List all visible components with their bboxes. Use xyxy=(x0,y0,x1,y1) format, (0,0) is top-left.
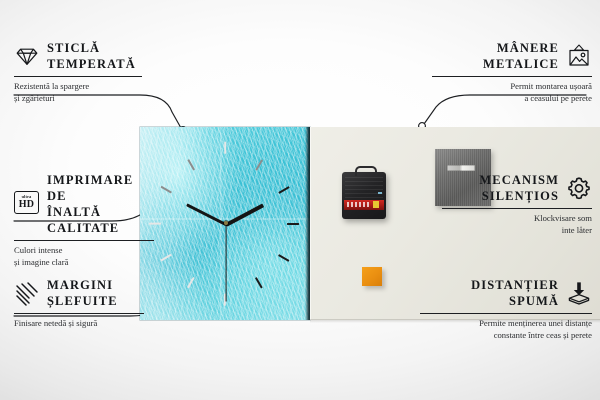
feature-header: MECANISM SILENȚIOS xyxy=(442,172,592,204)
clock-tick-10 xyxy=(161,186,172,193)
feature-title: MÂNERE METALICE xyxy=(483,40,559,72)
battery-label xyxy=(347,202,369,207)
feature-subtitle: Klockvisare som inte låter xyxy=(442,213,592,236)
feature-header: MÂNERE METALICE xyxy=(432,40,592,72)
feature-divider xyxy=(14,76,142,77)
feature-foam-spacer: DISTANȚIER SPUMĂ Permite menținerea unei… xyxy=(420,277,592,341)
feature-header: STICLĂ TEMPERATĂ xyxy=(14,40,142,72)
feature-tempered-glass: STICLĂ TEMPERATĂ Rezistentă la spargere … xyxy=(14,40,142,104)
feature-subtitle: Culori intense și imagine clară xyxy=(14,245,154,268)
feature-title: STICLĂ TEMPERATĂ xyxy=(47,40,136,72)
clock-tick-8 xyxy=(161,254,172,261)
feature-subtitle: Rezistentă la spargere și zgârieturi xyxy=(14,81,142,104)
ultra-hd-badge-icon: ultra HD xyxy=(14,191,40,217)
feature-metal-hangers: MÂNERE METALICE Permit montarea ușoară a… xyxy=(432,40,592,104)
infographic-canvas: STICLĂ TEMPERATĂ Rezistentă la spargere … xyxy=(0,0,600,400)
clock-tick-5 xyxy=(255,277,262,288)
mechanism-led xyxy=(378,192,382,194)
clock-tick-4 xyxy=(278,254,289,261)
feature-divider xyxy=(420,313,592,314)
battery xyxy=(344,200,384,210)
mechanism-panel xyxy=(345,176,383,198)
feature-silent-mechanism: MECANISM SILENȚIOS Klockvisare som inte … xyxy=(442,172,592,236)
feature-title: MECANISM SILENȚIOS xyxy=(479,172,559,204)
feature-title: IMPRIMARE DE ÎNALTĂ CALITATE xyxy=(47,172,154,236)
feature-header: DISTANȚIER SPUMĂ xyxy=(420,277,592,309)
diamond-icon xyxy=(14,43,40,69)
clock-hour-hand xyxy=(225,203,264,226)
glass-band xyxy=(140,218,310,220)
clock-tick-11 xyxy=(187,159,194,170)
battery-plus-terminal xyxy=(373,201,379,208)
gear-icon xyxy=(566,175,592,201)
clock-mechanism xyxy=(342,172,386,219)
feature-divider xyxy=(442,208,592,209)
clock-center-cap xyxy=(224,221,228,225)
foam-spacer xyxy=(362,267,382,286)
clock-tick-1 xyxy=(255,159,262,170)
clock-tick-12 xyxy=(224,142,226,154)
hd-label: HD xyxy=(19,200,35,210)
polished-edges-icon xyxy=(14,280,40,306)
feature-title: MARGINI ȘLEFUITE xyxy=(47,277,118,309)
feature-title: DISTANȚIER SPUMĂ xyxy=(471,277,559,309)
plate-slot xyxy=(447,165,475,171)
feature-divider xyxy=(14,313,144,314)
feature-subtitle: Permite menținerea unei distanțe constan… xyxy=(420,318,592,341)
feature-high-quality-print: ultra HD IMPRIMARE DE ÎNALTĂ CALITATE Cu… xyxy=(14,172,154,268)
clock-tick-3 xyxy=(287,223,299,225)
wall-clock xyxy=(140,127,310,320)
clock-tick-2 xyxy=(278,186,289,193)
feature-header: ultra HD IMPRIMARE DE ÎNALTĂ CALITATE xyxy=(14,172,154,236)
arrow-down-onto-pad-icon xyxy=(566,280,592,306)
clock-second-hand xyxy=(225,224,226,302)
feature-polished-edges: MARGINI ȘLEFUITE Finisare netedă și sigu… xyxy=(14,277,144,330)
feature-subtitle: Permit montarea ușoară a ceasului pe per… xyxy=(432,81,592,104)
feature-subtitle: Finisare netedă și sigură xyxy=(14,318,144,330)
clock-tick-7 xyxy=(187,277,194,288)
mechanism-hanger xyxy=(355,166,377,176)
feature-divider xyxy=(14,240,154,241)
picture-frame-hanging-icon xyxy=(566,43,592,69)
feature-header: MARGINI ȘLEFUITE xyxy=(14,277,144,309)
feature-divider xyxy=(432,76,592,77)
